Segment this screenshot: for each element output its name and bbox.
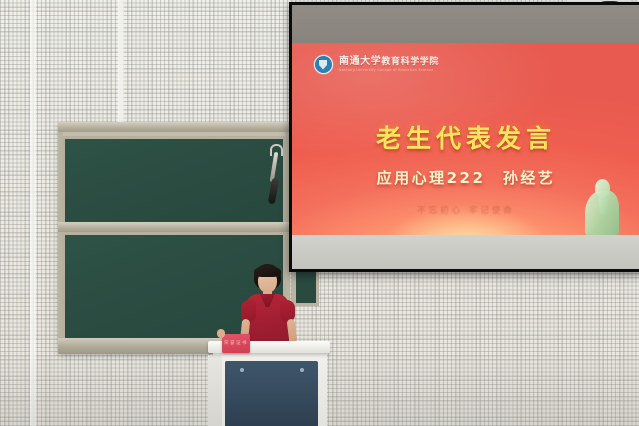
statue-head — [595, 179, 610, 197]
jade-statue-graphic — [582, 173, 622, 235]
lectern-fastener — [300, 368, 304, 372]
slide-title: 老生代表发言 — [292, 119, 639, 155]
lectern-front-panel — [225, 361, 318, 426]
screen-top-band — [292, 5, 639, 43]
lectern-fastener — [240, 368, 244, 372]
slide-logo-college: 教育科学学院 — [381, 57, 439, 67]
presentation-slide: 南通大学教育科学学院 Nantong University College of… — [292, 43, 639, 235]
chalkboard-panel-upper — [62, 136, 286, 226]
slide-logo-university: 南通大学 — [339, 56, 381, 67]
university-emblem-icon — [314, 55, 333, 74]
chalkboard-rail-top — [58, 122, 290, 132]
slide-logo-subtitle-en: Nantong University College of Education … — [339, 69, 439, 72]
screen-bottom-band — [292, 235, 639, 269]
red-certificate-card: 荣誉证书 — [222, 334, 250, 353]
speaker-hand — [217, 329, 225, 338]
chalkboard-rail-middle — [58, 222, 290, 232]
speaker-hair-front — [254, 266, 281, 277]
lectern-side — [208, 355, 222, 426]
projection-screen: 南通大学教育科学学院 Nantong University College of… — [289, 2, 639, 272]
classroom-photo-scene: 南通大学教育科学学院 Nantong University College of… — [0, 0, 639, 426]
slide-logo: 南通大学教育科学学院 Nantong University College of… — [314, 55, 439, 74]
lectern — [208, 341, 330, 426]
red-certificate-text: 荣誉证书 — [222, 340, 250, 346]
speaker-arm-right — [287, 319, 298, 344]
slide-logo-text: 南通大学教育科学学院 — [339, 57, 439, 68]
